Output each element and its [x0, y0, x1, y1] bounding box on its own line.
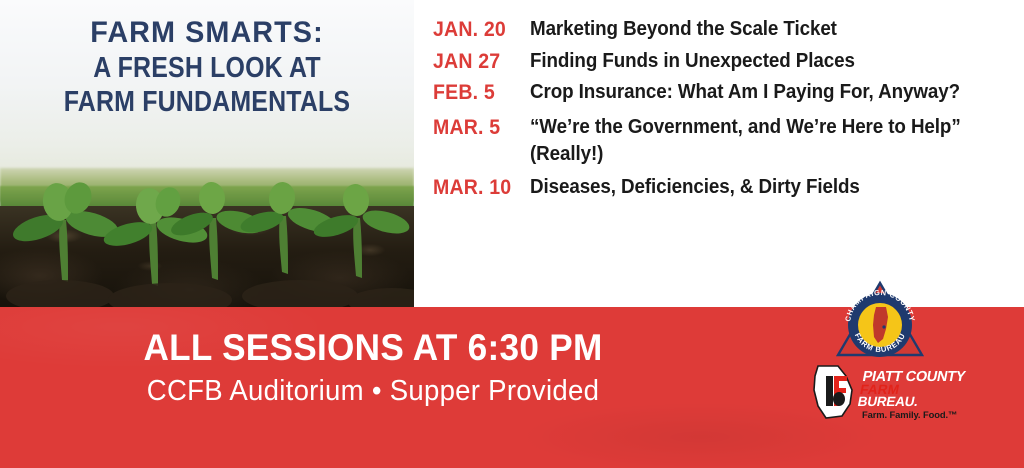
schedule-row: MAR. 5 “We’re the Government, and We’re … — [433, 114, 1024, 167]
session-title: Finding Funds in Unexpected Places — [530, 48, 994, 75]
soybean-plants-illustration — [0, 150, 414, 310]
pcfb-tagline: Farm. Family. Food.™ — [862, 409, 957, 420]
headline-line-1: FARM SMARTS: — [8, 18, 405, 49]
piatt-county-farm-bureau-logo: PIATT COUNTY FARM BUREAU. Farm. Family. … — [800, 360, 975, 422]
schedule-row: JAN 27 Finding Funds in Unexpected Place… — [433, 48, 1024, 76]
headline-line-3: FARM FUNDAMENTALS — [29, 88, 385, 118]
session-title: Marketing Beyond the Scale Ticket — [530, 16, 994, 43]
session-title: Crop Insurance: What Am I Paying For, An… — [530, 79, 994, 106]
pcfb-line-3: BUREAU. — [856, 394, 919, 409]
page-title: FARM SMARTS: A FRESH LOOK AT FARM FUNDAM… — [0, 18, 414, 118]
session-date: JAN 27 — [433, 48, 523, 76]
banner-headline: ALL SESSIONS AT 6:30 PM — [19, 329, 728, 367]
banner-text-block: ALL SESSIONS AT 6:30 PM CCFB Auditorium … — [0, 329, 746, 408]
session-title: “We’re the Government, and We’re Here to… — [530, 114, 994, 167]
banner-subline: CCFB Auditorium • Supper Provided — [19, 376, 728, 407]
event-flyer: FARM SMARTS: A FRESH LOOK AT FARM FUNDAM… — [0, 0, 1024, 468]
champaign-county-farm-bureau-logo: CHAMPAIGN COUNTY FARM BUREAU — [834, 277, 926, 363]
session-date: MAR. 5 — [433, 114, 523, 142]
schedule-row: JAN. 20 Marketing Beyond the Scale Ticke… — [433, 16, 1024, 44]
session-schedule-list: JAN. 20 Marketing Beyond the Scale Ticke… — [414, 0, 1024, 310]
schedule-row: FEB. 5 Crop Insurance: What Am I Paying … — [433, 79, 1024, 107]
session-date: MAR. 10 — [433, 174, 523, 202]
schedule-row: MAR. 10 Diseases, Deficiencies, & Dirty … — [433, 174, 1024, 202]
hero-photo-panel: FARM SMARTS: A FRESH LOOK AT FARM FUNDAM… — [0, 0, 414, 310]
session-date: FEB. 5 — [433, 79, 523, 107]
headline-line-2: A FRESH LOOK AT — [29, 54, 385, 84]
session-title: Diseases, Deficiencies, & Dirty Fields — [530, 174, 994, 201]
session-date: JAN. 20 — [433, 16, 523, 44]
